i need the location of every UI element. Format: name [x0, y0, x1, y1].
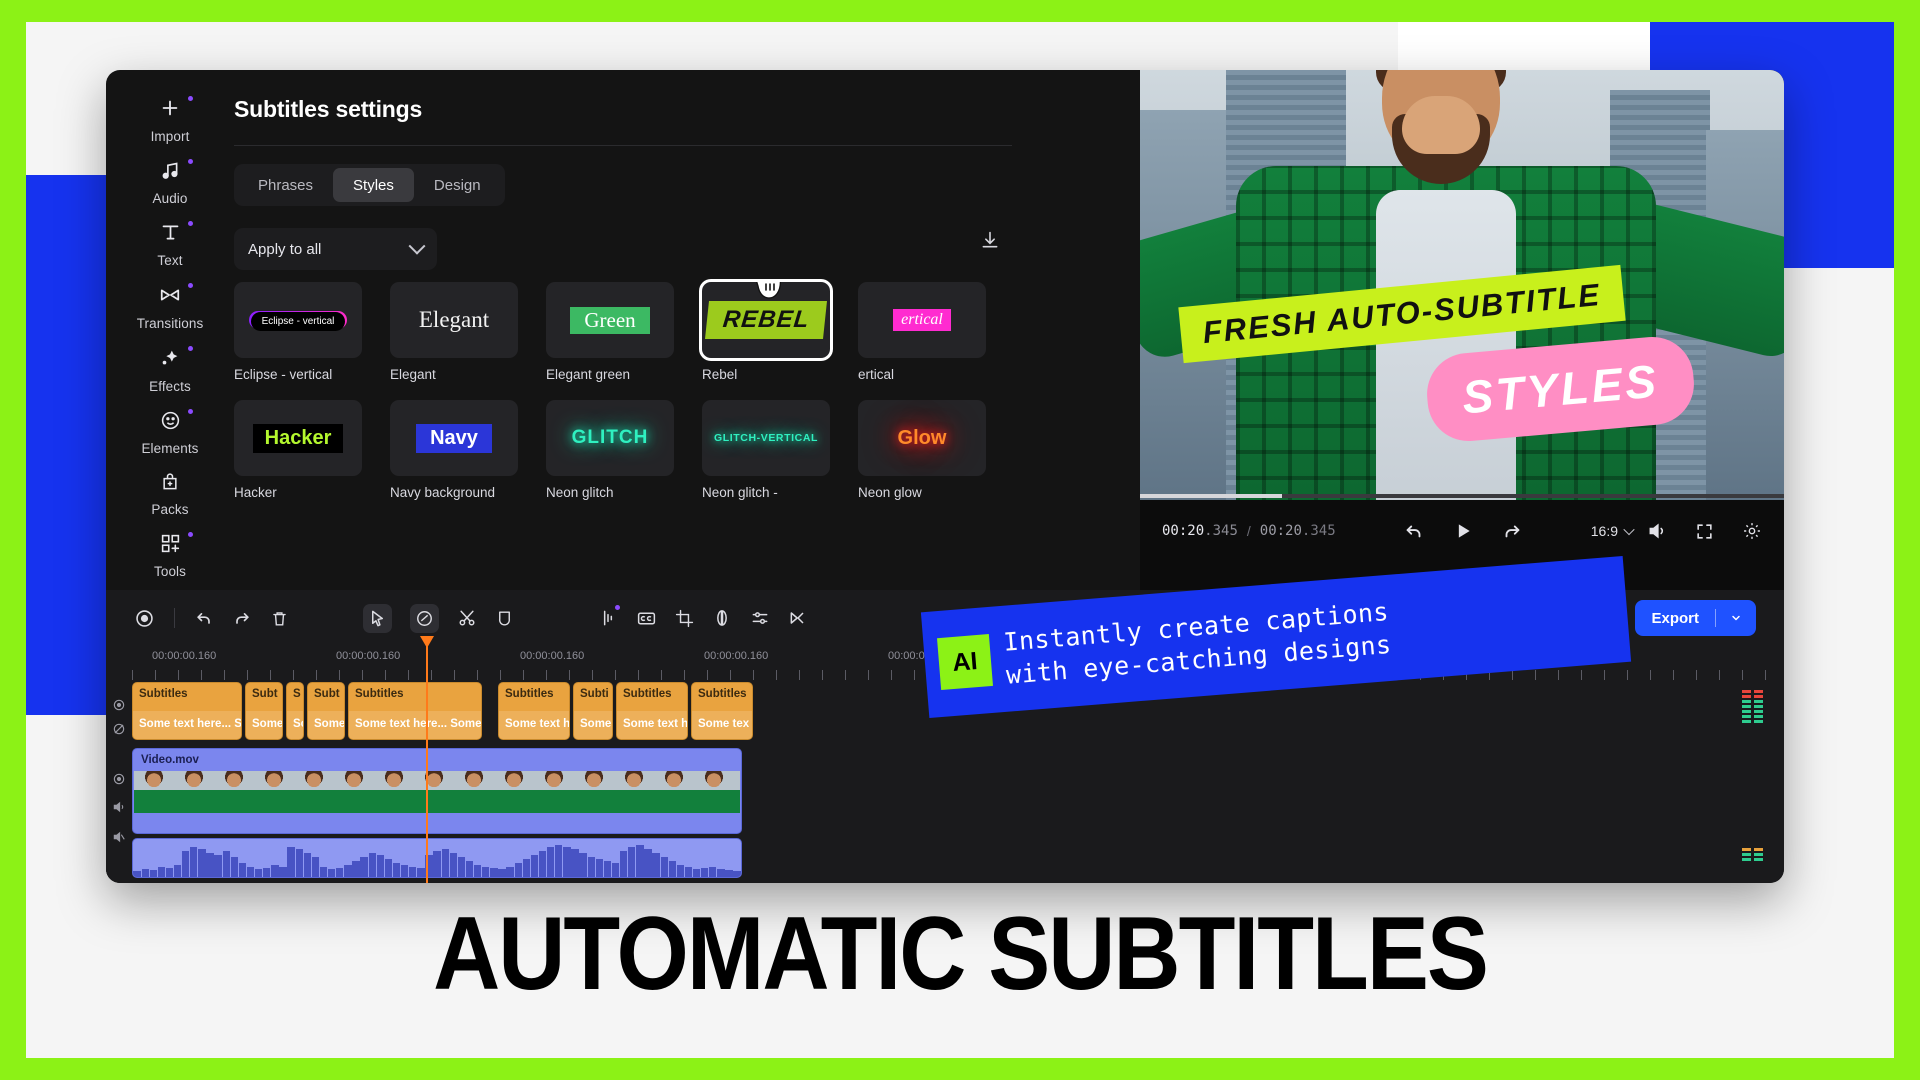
chevron-down-icon[interactable]	[1716, 612, 1756, 624]
transitions-icon[interactable]	[788, 608, 808, 628]
waveform-bar	[685, 867, 692, 877]
meter-segment	[1742, 695, 1751, 698]
clip-title: Subtitles	[499, 683, 569, 700]
packs-bag-icon	[160, 472, 180, 492]
waveform-bar	[385, 859, 392, 877]
waveform-bar	[652, 853, 659, 877]
film-frame	[694, 771, 734, 813]
waveform-bar	[247, 867, 254, 877]
preset-thumbnail[interactable]: Navy	[390, 400, 518, 476]
clip-text: Some text h	[499, 711, 569, 739]
eye-icon[interactable]	[112, 772, 126, 791]
preset-label: ertical	[858, 367, 986, 382]
waveform-bar	[223, 851, 230, 877]
meter-segment	[1754, 715, 1763, 718]
meter-segment	[1754, 710, 1763, 713]
meter-column	[1742, 848, 1751, 863]
notification-dot	[188, 96, 193, 101]
waveform-bar	[531, 855, 538, 877]
waveform-bar	[166, 868, 173, 877]
meter-segment	[1742, 720, 1751, 723]
time-separator: /	[1247, 523, 1251, 539]
clip-text: Some text here... Som	[133, 711, 241, 739]
video-preview-panel: FRESH AUTO-SUBTITLE STYLES 00:20.345 / 0…	[1140, 70, 1784, 590]
preset-sample: GLITCH	[572, 427, 649, 449]
preset-neon-glitch[interactable]: GLITCHNeon glitch	[546, 400, 674, 500]
player-controls-bar: 00:20.345 / 00:20.345 16:9	[1140, 500, 1784, 562]
color-adjust-icon[interactable]	[712, 608, 732, 628]
volume-icon[interactable]	[1647, 521, 1667, 541]
chevron-down-icon	[1623, 524, 1634, 535]
waveform-bar	[669, 861, 676, 877]
preset-label: Neon glitch -	[702, 485, 830, 500]
meter-segment	[1742, 848, 1751, 851]
chevron-down-icon	[409, 238, 426, 255]
split-scissors-icon[interactable]	[457, 608, 477, 628]
redo-icon[interactable]	[232, 608, 252, 628]
waveform-bar	[725, 870, 732, 877]
waveform-bar	[579, 853, 586, 877]
tab-styles[interactable]: Styles	[333, 168, 414, 202]
notification-dot	[188, 346, 193, 351]
settings-gear-icon[interactable]	[1742, 521, 1762, 541]
transitions-bowtie-icon	[159, 284, 181, 306]
preset-thumbnail[interactable]: Green	[546, 282, 674, 358]
person-face	[1402, 96, 1480, 154]
waveform-bar	[150, 870, 157, 877]
preset-sample: Glow	[898, 427, 947, 450]
keyframe-icon[interactable]	[598, 608, 618, 628]
waveform-bar	[182, 851, 189, 877]
sidebar-item-label: Tools	[106, 564, 234, 579]
waveform-bar	[506, 867, 513, 877]
waveform-bar	[304, 853, 311, 877]
audio-meter-top	[1742, 690, 1768, 724]
waveform-bar	[612, 863, 619, 877]
subtitle-clip[interactable]: SubtitlesSome text h	[616, 682, 688, 740]
clip-text: So	[287, 711, 303, 739]
select-arrow-icon[interactable]	[363, 604, 392, 633]
film-frame	[534, 771, 574, 813]
waveform-bar	[263, 868, 270, 877]
preset-ertical[interactable]: erticalertical	[858, 282, 986, 382]
preset-sample: Navy	[416, 424, 492, 453]
meter-column	[1742, 690, 1751, 725]
clip-title: Subti	[574, 683, 612, 700]
playhead[interactable]	[426, 646, 428, 883]
sidebar-item-label: Import	[106, 129, 234, 144]
decor-blue-left	[26, 175, 118, 715]
meter-segment	[1742, 710, 1751, 713]
mask-shield-icon[interactable]	[495, 609, 514, 628]
waveform-bar	[279, 867, 286, 877]
meter-segment	[1742, 853, 1751, 856]
notification-dot	[188, 532, 193, 537]
waveform-bar	[409, 867, 416, 877]
preset-label: Hacker	[234, 485, 362, 500]
clip-title: S	[287, 683, 303, 700]
waveform-bar	[539, 851, 546, 877]
waveform-bar	[515, 863, 522, 877]
waveform-bar	[604, 861, 611, 877]
text-t-icon	[160, 222, 181, 243]
preset-row: HackerHackerNavyNavy backgroundGLITCHNeo…	[234, 400, 1024, 500]
meter-segment	[1754, 720, 1763, 723]
waveform-bar	[328, 869, 335, 877]
waveform-bar	[158, 867, 165, 877]
waveform-bar	[523, 859, 530, 877]
sidebar-item-label: Packs	[106, 502, 234, 517]
waveform-bar	[693, 869, 700, 877]
waveform-bar	[239, 863, 246, 877]
meter-segment	[1754, 858, 1763, 861]
preset-label: Rebel	[702, 367, 830, 382]
speaker-icon[interactable]	[112, 800, 126, 819]
waveform-bar	[482, 867, 489, 877]
tab-design[interactable]: Design	[414, 168, 501, 202]
preset-label: Neon glow	[858, 485, 986, 500]
meter-segment	[1754, 848, 1763, 851]
film-frame	[454, 771, 494, 813]
download-icon[interactable]	[980, 230, 1000, 255]
film-frame	[374, 771, 414, 813]
preset-label: Eclipse - vertical	[234, 367, 362, 382]
play-icon[interactable]	[1453, 521, 1473, 541]
preset-sample: ertical	[893, 309, 951, 331]
apply-to-all-value: Apply to all	[248, 241, 411, 258]
waveform-bar	[596, 859, 603, 877]
sidebar-item-transitions[interactable]: Transitions	[106, 275, 234, 338]
waveform-bar	[352, 861, 359, 877]
waveform-bar	[344, 865, 351, 877]
tools-grid-icon	[160, 533, 181, 554]
meter-segment	[1754, 700, 1763, 703]
waveform-bar	[336, 868, 343, 877]
sidebar-item-label: Audio	[106, 191, 234, 206]
sidebar-item-audio[interactable]: Audio	[106, 151, 234, 213]
clip-title: Subt	[246, 683, 282, 700]
divider	[234, 145, 1012, 146]
waveform-bar	[393, 863, 400, 877]
film-frame	[334, 771, 374, 813]
waveform-bar	[555, 845, 562, 877]
sidebar-item-tools[interactable]: Tools	[106, 524, 234, 586]
delete-trash-icon[interactable]	[270, 609, 289, 628]
meter-segment	[1754, 690, 1763, 693]
waveform-bar	[433, 851, 440, 877]
video-clip-name: Video.mov	[133, 749, 741, 766]
waveform-bar	[206, 853, 213, 877]
meter-segment	[1754, 695, 1763, 698]
waveform-bar	[442, 849, 449, 877]
waveform-bar	[733, 871, 740, 877]
undo-icon[interactable]	[1403, 520, 1425, 542]
waveform-bar	[588, 857, 595, 877]
waveform-bar	[312, 857, 319, 877]
meter-segment	[1754, 853, 1763, 856]
smiley-icon	[160, 410, 181, 431]
preset-neon-glitch[interactable]: GLITCH-VERTICALNeon glitch -	[702, 400, 830, 500]
waveform-bar	[377, 855, 384, 877]
music-note-icon	[160, 160, 181, 181]
subtitle-clip[interactable]: SubtitlesSome text here... Some te	[348, 682, 482, 740]
preset-label: Elegant green	[546, 367, 674, 382]
film-frame	[614, 771, 654, 813]
headline: AUTOMATIC SUBTITLES	[0, 894, 1920, 1014]
captions-cc-icon[interactable]	[636, 608, 657, 629]
waveform-bar	[320, 867, 327, 877]
preset-label: Navy background	[390, 485, 518, 500]
clip-title: Subtitles	[133, 683, 241, 700]
current-time: 00:20.345	[1162, 523, 1238, 539]
record-icon[interactable]	[134, 608, 155, 629]
waveform-bar	[231, 857, 238, 877]
preset-thumbnail[interactable]: Elegant	[390, 282, 518, 358]
ruler-label: 00:00:00.160	[152, 650, 216, 662]
ai-badge: AI	[937, 634, 993, 690]
waveform-bar	[255, 869, 262, 877]
redo-icon[interactable]	[1501, 520, 1523, 542]
sidebar-item-text[interactable]: Text	[106, 213, 234, 275]
waveform-bar	[369, 853, 376, 877]
waveform-bar	[458, 857, 465, 877]
waveform-bar	[214, 855, 221, 877]
film-frame	[214, 771, 254, 813]
preset-neon-glow[interactable]: GlowNeon glow	[858, 400, 986, 500]
preset-rebel[interactable]: REBELRebel	[702, 282, 830, 382]
subtitle-clip[interactable]: SSo	[286, 682, 304, 740]
waveform-bar	[466, 861, 473, 877]
waveform-bar	[296, 849, 303, 877]
waveform-bar	[271, 865, 278, 877]
film-frame	[654, 771, 694, 813]
preset-thumbnail[interactable]: GLITCH-VERTICAL	[702, 400, 830, 476]
sidebar: ImportAudioTextTransitionsEffectsElement…	[106, 70, 234, 590]
video-canvas[interactable]: FRESH AUTO-SUBTITLE STYLES	[1140, 70, 1784, 500]
waveform-bar	[133, 871, 140, 877]
waveform-bar	[628, 847, 635, 877]
ruler-label: 00:00:00.160	[520, 650, 584, 662]
sidebar-item-label: Elements	[106, 441, 234, 456]
clip-title: Subtitles	[617, 683, 687, 700]
waveform-bar	[142, 869, 149, 877]
preset-thumbnail[interactable]: Hacker	[234, 400, 362, 476]
eye-icon[interactable]	[112, 698, 126, 717]
waveform-bar	[190, 847, 197, 877]
preset-thumbnail[interactable]: GLITCH	[546, 400, 674, 476]
preset-sample: Hacker	[253, 424, 344, 453]
clip-text: Some text here... Some te	[349, 711, 481, 739]
waveform-bar	[474, 865, 481, 877]
audio-waveform	[133, 843, 741, 877]
sidebar-item-import[interactable]: Import	[106, 88, 234, 151]
preset-label: Neon glitch	[546, 485, 674, 500]
waveform-bar	[401, 865, 408, 877]
film-frame	[134, 771, 174, 813]
waveform-bar	[677, 865, 684, 877]
notification-dot	[188, 159, 193, 164]
playback-progress-bar[interactable]	[1140, 494, 1784, 498]
preset-sample: Eclipse - vertical	[249, 311, 348, 329]
lock-slash-icon[interactable]	[112, 722, 126, 741]
ai-promo-text: Instantly create captions with eye-catch…	[1002, 595, 1392, 692]
waveform-bar	[644, 849, 651, 877]
waveform-bar	[174, 865, 181, 877]
waveform-bar	[417, 868, 424, 877]
undo-icon[interactable]	[194, 608, 214, 628]
meter-column	[1754, 848, 1763, 863]
waveform-bar	[547, 847, 554, 877]
meter-segment	[1742, 705, 1751, 708]
waveform-bar	[636, 845, 643, 877]
sidebar-item-label: Effects	[106, 379, 234, 394]
ruler-label: 00:00:00.160	[336, 650, 400, 662]
film-frame	[494, 771, 534, 813]
waveform-bar	[717, 869, 724, 877]
ruler-label: 00:00:00.160	[704, 650, 768, 662]
clip-text: Some tex	[692, 711, 752, 739]
preset-sample: REBEL	[705, 301, 827, 339]
meter-segment	[1742, 715, 1751, 718]
subtitle-clip[interactable]: SubtitlesSome text here... Som	[132, 682, 242, 740]
clip-text: Some text h	[617, 711, 687, 739]
preset-sample: GLITCH-VERTICAL	[714, 432, 818, 444]
preset-elegant[interactable]: ElegantElegant	[390, 282, 518, 382]
notification-dot	[188, 221, 193, 226]
style-presets-grid: Eclipse - verticalEclipse - verticalEleg…	[234, 282, 1024, 518]
waveform-bar	[287, 847, 294, 877]
export-button[interactable]: Export	[1635, 600, 1756, 636]
meter-segment	[1742, 700, 1751, 703]
sidebar-item-label: Text	[106, 253, 234, 268]
audio-meter-bottom	[1742, 848, 1768, 862]
aspect-ratio-select[interactable]: 16:9	[1591, 523, 1633, 539]
subtitle-clip[interactable]: SubtiSome	[573, 682, 613, 740]
playback-progress-fill	[1140, 494, 1282, 498]
clip-text: Some	[308, 711, 344, 739]
mute-icon[interactable]	[112, 830, 126, 849]
film-frame	[574, 771, 614, 813]
notification-dot	[188, 409, 193, 414]
waveform-bar	[498, 869, 505, 877]
film-frame	[734, 771, 740, 813]
waveform-bar	[709, 867, 716, 877]
fullscreen-icon[interactable]	[1695, 522, 1714, 541]
subtitle-clip[interactable]: SubtSome	[245, 682, 283, 740]
waveform-bar	[661, 857, 668, 877]
film-strip-thumbnails	[134, 771, 740, 813]
clip-title: Subt	[308, 683, 344, 700]
preset-thumbnail[interactable]: Glow	[858, 400, 986, 476]
preset-eclipse-vertical[interactable]: Eclipse - verticalEclipse - vertical	[234, 282, 362, 382]
link-icon[interactable]	[410, 604, 439, 633]
sidebar-item-elements[interactable]: Elements	[106, 401, 234, 463]
preset-thumbnail[interactable]: REBEL	[702, 282, 830, 358]
sidebar-item-label: Transitions	[106, 316, 234, 331]
subtitle-clip[interactable]: SubtSome	[307, 682, 345, 740]
page-title: Subtitles settings	[234, 96, 422, 123]
preset-row: Eclipse - verticalEclipse - verticalEleg…	[234, 282, 1024, 382]
film-frame	[174, 771, 214, 813]
person-tshirt	[1376, 190, 1516, 500]
audio-waveform-clip[interactable]	[132, 838, 742, 878]
notification-dot	[188, 283, 193, 288]
plus-icon	[159, 97, 181, 119]
total-time: 00:20.345	[1260, 523, 1336, 539]
sidebar-item-effects[interactable]: Effects	[106, 338, 234, 401]
decor-white-strip	[1398, 22, 1650, 74]
clip-text: Some	[246, 711, 282, 739]
meter-segment	[1742, 690, 1751, 693]
track-headers	[106, 682, 132, 883]
subtitle-clip[interactable]: SubtitlesSome text h	[498, 682, 570, 740]
waveform-bar	[360, 857, 367, 877]
divider	[174, 608, 175, 628]
film-frame	[254, 771, 294, 813]
preset-elegant-green[interactable]: GreenElegant green	[546, 282, 674, 382]
clip-title: Subtitles	[349, 683, 481, 700]
waveform-bar	[490, 868, 497, 877]
meter-column	[1754, 690, 1763, 725]
hand-pointer-cursor	[754, 282, 788, 302]
effects-sparkle-icon	[159, 347, 181, 369]
panel-tabs: PhrasesStylesDesign	[234, 164, 505, 206]
tab-phrases[interactable]: Phrases	[238, 168, 333, 202]
subtitle-clip[interactable]: SubtitlesSome tex	[691, 682, 753, 740]
aspect-ratio-value: 16:9	[1591, 523, 1618, 539]
sidebar-item-packs[interactable]: Packs	[106, 463, 234, 524]
waveform-bar	[198, 849, 205, 877]
preset-sample: Elegant	[419, 307, 489, 333]
preset-navy-background[interactable]: NavyNavy background	[390, 400, 518, 500]
video-editor-window: ImportAudioTextTransitionsEffectsElement…	[106, 70, 1784, 883]
notification-dot	[615, 605, 620, 610]
apply-to-all-select[interactable]: Apply to all	[234, 228, 437, 270]
video-clip[interactable]: Video.mov	[132, 748, 742, 834]
film-frame	[294, 771, 334, 813]
meter-segment	[1754, 705, 1763, 708]
export-label: Export	[1635, 610, 1715, 627]
clip-title: Subtitles	[692, 683, 752, 700]
waveform-bar	[450, 853, 457, 877]
preset-sample: Green	[570, 307, 649, 334]
waveform-bar	[571, 849, 578, 877]
waveform-bar	[620, 851, 627, 877]
waveform-bar	[701, 868, 708, 877]
waveform-bar	[563, 847, 570, 877]
crop-icon[interactable]	[675, 609, 694, 628]
meter-segment	[1742, 858, 1751, 861]
preset-label: Elegant	[390, 367, 518, 382]
film-frame	[414, 771, 454, 813]
mixer-icon[interactable]	[750, 608, 770, 628]
preset-hacker[interactable]: HackerHacker	[234, 400, 362, 500]
clip-text: Some	[574, 711, 612, 739]
preset-thumbnail[interactable]: Eclipse - vertical	[234, 282, 362, 358]
preset-thumbnail[interactable]: ertical	[858, 282, 986, 358]
